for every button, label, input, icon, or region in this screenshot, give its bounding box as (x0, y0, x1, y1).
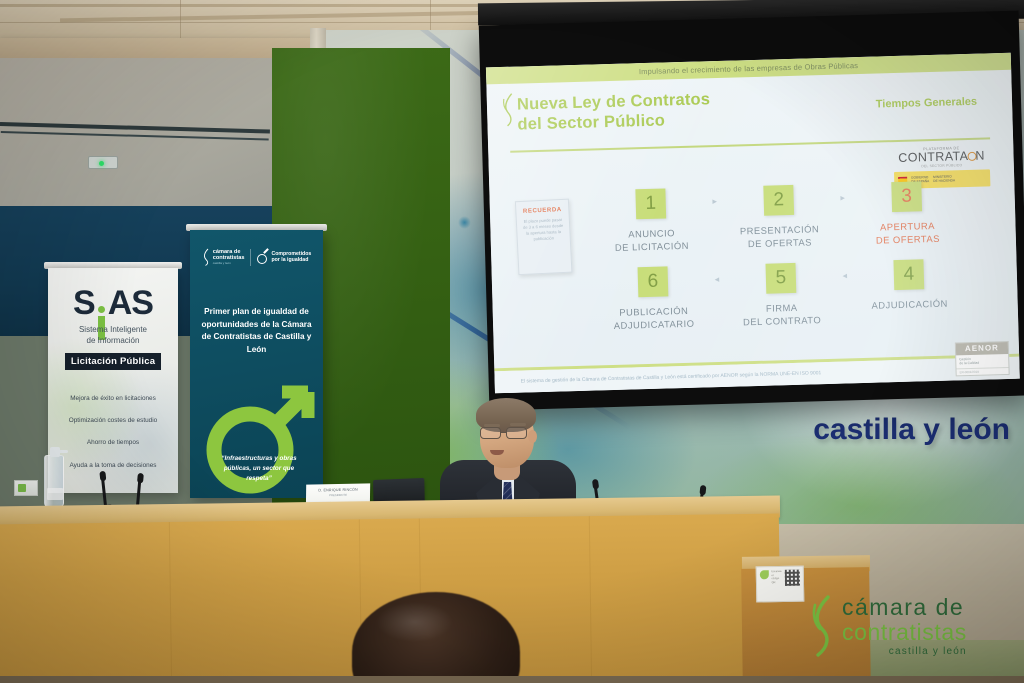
slide-top-banner: Impulsando el crecimiento de las empresa… (486, 53, 1011, 85)
contratacion-word-pre: CONTRATA (898, 149, 968, 165)
brand-line2: contratistas (842, 621, 967, 644)
exit-sign (14, 480, 38, 496)
sias-logo-s: S (73, 284, 95, 322)
step-5-label: FIRMA DEL CONTRATO (729, 301, 836, 329)
comprometidos-line2: por la igualdad (271, 257, 311, 264)
microphone-right-head-icon (699, 485, 706, 496)
step-4-number: 4 (893, 260, 924, 291)
conference-room-photo: e as castilla y león Impulsando el creci… (0, 0, 1024, 683)
step-4-adjudicacion: 4 ADJUDICACIÓN (855, 259, 962, 314)
step-2-number: 2 (763, 185, 794, 216)
sias-bullet-2: Optimización costes de estudio (48, 418, 178, 424)
eyeglass-lens-right (506, 427, 527, 439)
brand-watermark: cámara de contratistas castilla y león (810, 595, 1010, 657)
igualdad-banner-logos: cámara de contratistas castilla y león C… (190, 248, 323, 266)
projector-screen: Impulsando el crecimiento de las empresa… (479, 11, 1024, 411)
gender-symbol-icon (257, 250, 268, 264)
step-6-publicacion-adjudicatario: 6 PUBLICACIÓN ADJUDICATARIO (600, 266, 708, 333)
igualdad-rollup-banner: cámara de contratistas castilla y león C… (190, 230, 323, 498)
slide-top-banner-text: Impulsando el crecimiento de las empresa… (639, 61, 859, 76)
brand-line1: cámara de (842, 596, 967, 619)
step-3-label: APERTURA DE OFERTAS (854, 219, 961, 247)
slide-header: Nueva Ley de Contratos del Sector Públic… (517, 82, 978, 135)
qr-code-sign[interactable]: Escanea el código QR (756, 566, 805, 603)
step-arrow-5-to-6-icon: ◂ (706, 265, 729, 286)
hand-sanitizer-bottle (44, 455, 64, 507)
aenor-certificate-number: ER-0001/2019 (957, 368, 1009, 375)
camara-contratistas-mark-large-icon (810, 595, 836, 657)
recuerda-callout: RECUERDA El plazo puede pasar de 3 a 6 m… (515, 199, 573, 276)
step-6-label: PUBLICACIÓN ADJUDICATARIO (601, 305, 708, 333)
speaker-eyeglasses (478, 427, 536, 439)
process-steps: 1 ANUNCIO DE LICITACIÓN ▸ 2 PRESENTACIÓN… (597, 179, 1001, 333)
qr-caption: Escanea el código QR (771, 570, 782, 598)
camara-contratistas-logo: cámara de contratistas castilla y león (202, 248, 245, 266)
sias-logo-as: AS (108, 284, 153, 322)
comprometidos-text: Comprometidos por la igualdad (271, 251, 311, 264)
sias-bullet-1: Mejora de éxito en licitaciones (48, 396, 178, 402)
comprometidos-igualdad-logo: Comprometidos por la igualdad (257, 250, 311, 264)
sias-rollup-banner: SAS Sistema Inteligente de Información L… (48, 268, 178, 493)
step-arrow-1-to-2-icon: ▸ (703, 187, 726, 208)
projected-slide: Impulsando el crecimiento de las empresa… (486, 53, 1020, 394)
process-steps-row-1: 1 ANUNCIO DE LICITACIÓN ▸ 2 PRESENTACIÓN… (597, 179, 999, 255)
step-arrow-2-to-3-icon: ▸ (831, 183, 854, 204)
recuerda-body: El plazo puede pasar de 3 a 6 meses desd… (522, 217, 565, 243)
recuerda-title: RECUERDA (521, 207, 563, 215)
microphone-far-left-2-head-icon (137, 473, 144, 483)
sias-badge: Licitación Pública (65, 353, 161, 370)
sanitizer-label (47, 488, 63, 500)
sias-bullet-3: Ahorro de tiempos (48, 440, 178, 446)
step-2-label: PRESENTACIÓN DE OFERTAS (726, 223, 833, 251)
qr-code-icon[interactable] (784, 570, 800, 586)
camara-contratistas-mark-icon (501, 93, 518, 127)
process-steps-row-2: 6 PUBLICACIÓN ADJUDICATARIO ◂ 5 FIRMA DE… (600, 258, 1002, 334)
step-5-firma-contrato: 5 FIRMA DEL CONTRATO (728, 262, 836, 329)
sias-tagline: Sistema Inteligente de Información (48, 325, 178, 347)
contratacion-word-post: N (975, 149, 985, 163)
aenor-certification-badge: AENOR Gestión de la Calidad ER-0001/2019 (955, 341, 1010, 377)
eyeglass-lens-left (480, 427, 501, 439)
brand-line3: castilla y león (842, 647, 967, 657)
aenor-scope: Gestión de la Calidad (956, 354, 1008, 370)
step-1-anuncio-licitacion: 1 ANUNCIO DE LICITACIÓN (597, 187, 705, 254)
sias-tagline-line1: Sistema Inteligente (48, 325, 178, 336)
step-3-apertura-ofertas: 3 APERTURA DE OFERTAS (853, 180, 961, 247)
igualdad-quote: “Infraestructuras y obras públicas, un s… (218, 454, 300, 484)
step-2-presentacion-ofertas: 2 PRESENTACIÓN DE OFERTAS (725, 184, 833, 251)
sias-benefits-list: Mejora de éxito en licitaciones Optimiza… (48, 396, 178, 470)
camara-logo-text: cámara de contratistas castilla y león (213, 249, 245, 266)
brand-wordmark: cámara de contratistas castilla y león (842, 596, 967, 657)
emergency-light-indicator (88, 156, 118, 169)
step-6-number: 6 (638, 267, 669, 298)
wall-region-text: castilla y león (813, 416, 1010, 443)
slide-title: Nueva Ley de Contratos del Sector Públic… (517, 89, 711, 135)
sias-tagline-line2: de Información (48, 336, 178, 347)
step-1-label: ANUNCIO DE LICITACIÓN (598, 226, 705, 254)
speaker-eyebrow-right (510, 423, 526, 426)
floor-strip (0, 676, 1024, 683)
contratacion-wordmark: CONTRATAN (893, 149, 989, 165)
microphone-left-head-icon (591, 479, 598, 490)
slide-footer-text: El sistema de gestión de la Cámara de Co… (495, 370, 822, 385)
sias-logo: SAS (48, 286, 178, 320)
camara-logo-line3: castilla y león (213, 262, 245, 266)
slide-title-line2: del Sector Público (517, 109, 711, 135)
logo-divider (250, 249, 251, 266)
step-arrow-4-to-5-icon: ◂ (833, 262, 856, 283)
slide-subtitle: Tiempos Generales (876, 96, 978, 111)
sias-bullet-4: Ayuda a la toma de decisiones (48, 463, 178, 469)
leaf-icon (760, 570, 769, 579)
nameplate-role: PRESIDENTE (309, 492, 367, 497)
step-3-number: 3 (891, 181, 922, 212)
step-1-number: 1 (635, 188, 666, 219)
camara-logo-line1: cámara de (213, 249, 245, 256)
step-5-number: 5 (766, 263, 797, 294)
igualdad-headline: Primer plan de igualdad de oportunidades… (190, 306, 323, 357)
camara-mark-icon (202, 248, 211, 266)
step-4-label: ADJUDICACIÓN (857, 298, 963, 314)
microphone-far-left-head-icon (99, 471, 106, 482)
